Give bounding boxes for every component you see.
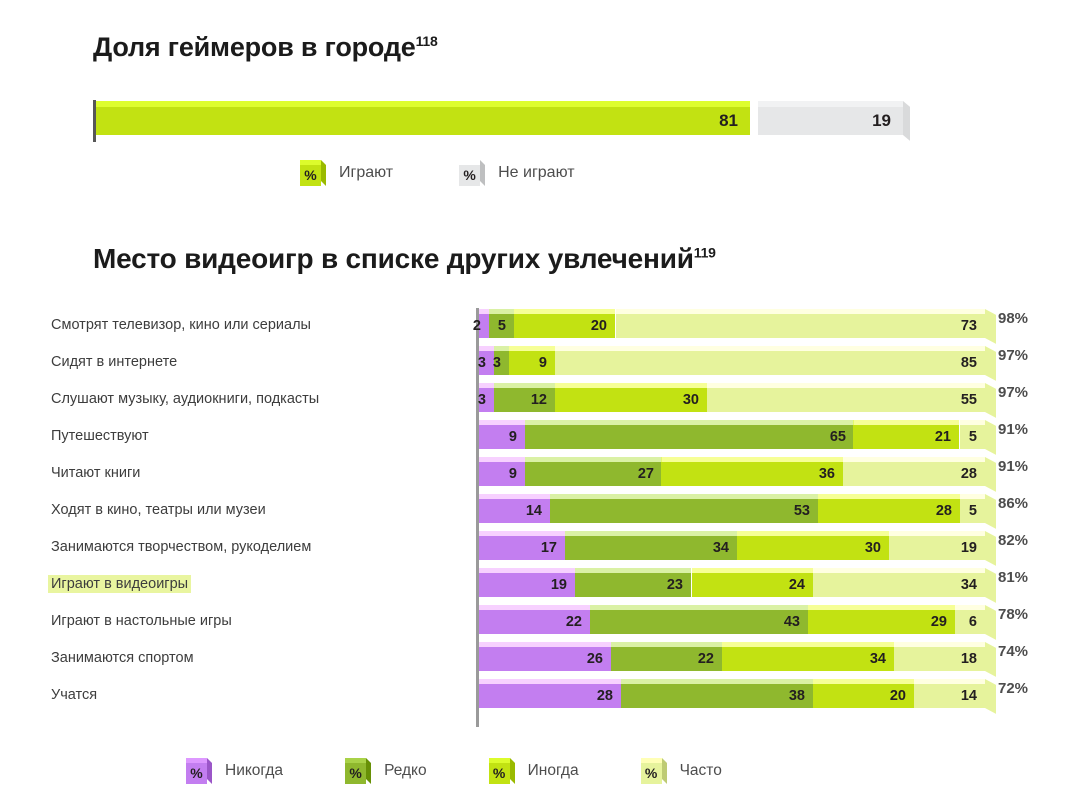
hobbies-segment-value: 19 (961, 538, 977, 558)
hobbies-segment-редко: 22 (611, 647, 722, 671)
segment-top-face (479, 457, 525, 462)
hobbies-segment-value: 34 (961, 575, 977, 595)
stack-end-cap (985, 420, 996, 455)
hobbies-row-label: Играют в настольные игры (48, 612, 235, 630)
percent-glyph: % (300, 165, 321, 186)
hobbies-footnote: 119 (694, 245, 716, 261)
percent-glyph: % (489, 763, 510, 784)
segment-top-face (818, 494, 960, 499)
hobbies-row-stack: 33985 (479, 351, 985, 375)
hobbies-segment-редко: 3 (494, 351, 509, 375)
hobbies-row-total: 72% (998, 680, 1028, 697)
gamers-share-segment-not-playing: 19 (758, 107, 903, 135)
gamers-share-legend-label: Не играют (498, 164, 574, 182)
hobbies-row-total: 97% (998, 384, 1028, 401)
hobbies-segment-иногда: 20 (514, 314, 615, 338)
hobbies-segment-value: 20 (890, 686, 906, 706)
percent-cube-icon: % (489, 758, 515, 784)
percent-cube-icon: % (186, 758, 212, 784)
segment-top-face (808, 605, 955, 610)
segment-top-face (960, 420, 985, 425)
hobbies-segment-value: 18 (961, 649, 977, 669)
hobbies-legend-label: Часто (680, 762, 722, 780)
hobbies-segment-редко: 38 (621, 684, 813, 708)
hobbies-segment-никогда: 9 (479, 462, 525, 486)
hobbies-row-stack: 965215 (479, 425, 985, 449)
hobbies-segment-value: 28 (597, 686, 613, 706)
hobbies-segment-никогда: 28 (479, 684, 621, 708)
percent-cube-icon: % (459, 160, 485, 186)
hobbies-row-total: 82% (998, 532, 1028, 549)
percent-glyph: % (459, 165, 480, 186)
hobbies-segment-value: 22 (698, 649, 714, 669)
hobbies-segment-value: 34 (870, 649, 886, 669)
hobbies-row: Играют в настольные игры224329678% (0, 604, 1080, 641)
stack-end-cap (985, 457, 996, 492)
hobbies-segment-никогда: 26 (479, 647, 611, 671)
hobbies-segment-часто: 18 (894, 647, 985, 671)
gamers-share-footnote: 118 (416, 33, 438, 49)
hobbies-segment-value: 5 (498, 316, 506, 336)
hobbies-row: Сидят в интернете3398597% (0, 345, 1080, 382)
segment-top-face (525, 457, 662, 462)
segment-top-face (479, 679, 621, 684)
segment-top-face (525, 420, 854, 425)
hobbies-segment-value: 73 (961, 316, 977, 336)
segment-top-face (479, 605, 590, 610)
gamers-share-legend-item-0: %Играют (300, 160, 393, 186)
hobbies-legend: %Никогда%Редко%Иногда%Часто (186, 758, 722, 784)
stack-end-cap (985, 605, 996, 640)
stack-end-cap (985, 531, 996, 566)
hobbies-row-label: Сидят в интернете (48, 353, 180, 371)
hobbies-segment-часто: 73 (616, 314, 985, 338)
hobbies-row-total: 81% (998, 569, 1028, 586)
segment-top-face (555, 346, 985, 351)
hobbies-segment-иногда: 28 (818, 499, 960, 523)
cube-side-face (321, 160, 326, 186)
hobbies-segment-иногда: 24 (692, 573, 813, 597)
segment-top-face (479, 346, 494, 351)
hobbies-row: Играют в видеоигры1923243481% (0, 567, 1080, 604)
gamers-share-segment-playing: 81 (96, 107, 750, 135)
stack-end-cap (985, 679, 996, 714)
hobbies-segment-value: 28 (936, 501, 952, 521)
hobbies-segment-value: 29 (931, 612, 947, 632)
hobbies-legend-item-0: %Никогда (186, 758, 283, 784)
segment-top-face (889, 531, 985, 536)
hobbies-segment-value: 19 (551, 575, 567, 595)
hobbies-row-total: 74% (998, 643, 1028, 660)
hobbies-segment-value: 55 (961, 390, 977, 410)
segment-top-face (555, 383, 707, 388)
segment-top-face (914, 679, 985, 684)
gamers-share-title-text: Доля геймеров в городе (93, 32, 416, 62)
gamers-share-value-playing: 81 (719, 111, 738, 131)
hobbies-segment-value: 14 (526, 501, 542, 521)
segment-top-face (479, 642, 611, 647)
segment-top-face (550, 494, 818, 499)
percent-glyph: % (345, 763, 366, 784)
hobbies-row-label: Читают книги (48, 464, 143, 482)
percent-glyph: % (186, 763, 207, 784)
segment-top-face (692, 568, 813, 573)
hobbies-segment-value: 14 (961, 686, 977, 706)
hobbies-segment-value: 17 (541, 538, 557, 558)
hobbies-segment-value: 3 (478, 353, 486, 373)
hobbies-row: Учатся2838201472% (0, 678, 1080, 715)
gamers-share-legend: %Играют%Не играют (300, 160, 575, 186)
hobbies-segment-value: 34 (713, 538, 729, 558)
hobbies-row: Читают книги927362891% (0, 456, 1080, 493)
hobbies-segment-value: 3 (493, 353, 501, 373)
segment-top-face (494, 383, 555, 388)
hobbies-legend-label: Редко (384, 762, 427, 780)
hobbies-segment-value: 30 (683, 390, 699, 410)
gamers-share-title: Доля геймеров в городе118 (93, 32, 438, 63)
hobbies-segment-value: 53 (794, 501, 810, 521)
hobbies-segment-часто: 34 (813, 573, 985, 597)
hobbies-row-stack: 19232434 (479, 573, 985, 597)
hobbies-segment-никогда: 17 (479, 536, 565, 560)
hobbies-segment-редко: 23 (575, 573, 691, 597)
stack-end-cap (985, 494, 996, 529)
hobbies-row-label: Ходят в кино, театры или музеи (48, 501, 269, 519)
hobbies-segment-редко: 5 (489, 314, 514, 338)
hobbies-segment-value: 3 (478, 390, 486, 410)
segment-top-face (575, 568, 691, 573)
segment-top-face (813, 568, 985, 573)
hobbies-segment-иногда: 36 (661, 462, 843, 486)
hobbies-segment-иногда: 30 (737, 536, 889, 560)
hobbies-row-stack: 3123055 (479, 388, 985, 412)
segment-top-face (96, 101, 750, 107)
segment-top-face (494, 346, 509, 351)
hobbies-segment-часто: 19 (889, 536, 985, 560)
hobbies-segment-value: 6 (969, 612, 977, 632)
hobbies-row-total: 78% (998, 606, 1028, 623)
percent-cube-icon: % (641, 758, 667, 784)
segment-top-face (611, 642, 722, 647)
hobbies-row-stack: 252073 (479, 314, 985, 338)
hobbies-row-total: 91% (998, 458, 1028, 475)
stack-end-cap (985, 309, 996, 344)
hobbies-segment-value: 27 (638, 464, 654, 484)
segment-top-face (661, 457, 843, 462)
hobbies-row-label: Смотрят телевизор, кино или сериалы (48, 316, 314, 334)
hobbies-legend-label: Иногда (528, 762, 579, 780)
hobbies-segment-value: 30 (865, 538, 881, 558)
hobbies-segment-value: 43 (784, 612, 800, 632)
segment-top-face (590, 605, 808, 610)
gamers-share-legend-label: Играют (339, 164, 393, 182)
segment-top-face (843, 457, 985, 462)
hobbies-row-label: Слушают музыку, аудиокниги, подкасты (48, 390, 322, 408)
cube-side-face (510, 758, 515, 784)
hobbies-row-stack: 9273628 (479, 462, 985, 486)
segment-top-face (509, 346, 555, 351)
hobbies-segment-value: 9 (509, 464, 517, 484)
hobbies-segment-часто: 5 (960, 425, 985, 449)
stack-end-cap (985, 642, 996, 677)
segment-top-face (813, 679, 914, 684)
hobbies-segment-никогда: 9 (479, 425, 525, 449)
hobbies-row-stack: 26223418 (479, 647, 985, 671)
hobbies-row-label: Играют в видеоигры (48, 575, 191, 593)
hobbies-legend-label: Никогда (225, 762, 283, 780)
hobbies-segment-value: 2 (473, 316, 481, 336)
segment-top-face (479, 568, 575, 573)
hobbies-segment-value: 28 (961, 464, 977, 484)
percent-glyph: % (641, 763, 662, 784)
hobbies-row-stack: 1453285 (479, 499, 985, 523)
gamers-share-value-not-playing: 19 (872, 111, 891, 131)
hobbies-row: Занимаются спортом2622341874% (0, 641, 1080, 678)
gamers-share-bar: 81 19 (93, 100, 903, 142)
segment-top-face (894, 642, 985, 647)
hobbies-row-total: 86% (998, 495, 1028, 512)
hobbies-segment-часто: 6 (955, 610, 985, 634)
hobbies-segment-иногда: 29 (808, 610, 955, 634)
hobbies-segment-иногда: 20 (813, 684, 914, 708)
segment-top-face (853, 420, 959, 425)
segment-side-face (903, 101, 910, 141)
segment-top-face (514, 309, 615, 314)
hobbies-row-stack: 17343019 (479, 536, 985, 560)
stack-end-cap (985, 568, 996, 603)
hobbies-segment-value: 26 (587, 649, 603, 669)
hobbies-row-label: Путешествуют (48, 427, 152, 445)
hobbies-title-text: Место видеоигр в списке других увлечений (93, 243, 694, 274)
hobbies-segment-иногда: 30 (555, 388, 707, 412)
hobbies-row-total: 91% (998, 421, 1028, 438)
hobbies-segment-value: 36 (819, 464, 835, 484)
hobbies-segment-никогда: 3 (479, 388, 494, 412)
segment-top-face (616, 309, 985, 314)
cube-side-face (207, 758, 212, 784)
hobbies-row-stack: 28382014 (479, 684, 985, 708)
hobbies-segment-value: 21 (935, 427, 951, 447)
segment-top-face (479, 420, 525, 425)
hobbies-row: Путешествуют96521591% (0, 419, 1080, 456)
hobbies-row: Ходят в кино, театры или музеи145328586% (0, 493, 1080, 530)
hobbies-row: Слушают музыку, аудиокниги, подкасты3123… (0, 382, 1080, 419)
hobbies-segment-value: 23 (667, 575, 683, 595)
hobbies-segment-никогда: 14 (479, 499, 550, 523)
hobbies-row-label: Учатся (48, 686, 100, 704)
hobbies-segment-часто: 5 (960, 499, 985, 523)
hobbies-segment-никогда: 19 (479, 573, 575, 597)
cube-side-face (480, 160, 485, 186)
hobbies-row-stack: 2243296 (479, 610, 985, 634)
hobbies-segment-никогда: 2 (479, 314, 489, 338)
segment-top-face (722, 642, 894, 647)
hobbies-segment-часто: 85 (555, 351, 985, 375)
hobbies-segment-редко: 34 (565, 536, 737, 560)
segment-top-face (737, 531, 889, 536)
hobbies-segment-value: 24 (789, 575, 805, 595)
hobbies-segment-редко: 27 (525, 462, 662, 486)
cube-side-face (662, 758, 667, 784)
hobbies-legend-item-1: %Редко (345, 758, 427, 784)
hobbies-segment-value: 65 (830, 427, 846, 447)
segment-top-face (479, 531, 565, 536)
percent-cube-icon: % (300, 160, 326, 186)
hobbies-row-total: 98% (998, 310, 1028, 327)
hobbies-title: Место видеоигр в списке других увлечений… (93, 243, 716, 275)
hobbies-segment-иногда: 34 (722, 647, 894, 671)
hobbies-segment-value: 9 (509, 427, 517, 447)
segment-top-face (707, 383, 985, 388)
gamers-share-legend-item-1: %Не играют (459, 160, 574, 186)
segment-top-face (489, 309, 514, 314)
hobbies-segment-часто: 55 (707, 388, 985, 412)
hobbies-segment-value: 12 (531, 390, 547, 410)
hobbies-segment-иногда: 21 (853, 425, 959, 449)
hobbies-segment-никогда: 22 (479, 610, 590, 634)
segment-top-face (955, 605, 985, 610)
hobbies-segment-часто: 14 (914, 684, 985, 708)
hobbies-segment-редко: 43 (590, 610, 808, 634)
hobbies-segment-часто: 28 (843, 462, 985, 486)
hobbies-segment-value: 22 (566, 612, 582, 632)
hobbies-segment-никогда: 3 (479, 351, 494, 375)
stack-end-cap (985, 383, 996, 418)
percent-cube-icon: % (345, 758, 371, 784)
segment-top-face (621, 679, 813, 684)
stack-end-cap (985, 346, 996, 381)
hobbies-segment-value: 38 (789, 686, 805, 706)
segment-top-face (479, 383, 494, 388)
hobbies-row: Занимаются творчеством, рукоделием173430… (0, 530, 1080, 567)
hobbies-segment-иногда: 9 (509, 351, 555, 375)
hobbies-row-total: 97% (998, 347, 1028, 364)
hobbies-legend-item-3: %Часто (641, 758, 722, 784)
hobbies-legend-item-2: %Иногда (489, 758, 579, 784)
hobbies-segment-редко: 65 (525, 425, 854, 449)
segment-top-face (479, 494, 550, 499)
hobbies-row: Смотрят телевизор, кино или сериалы25207… (0, 308, 1080, 345)
segment-top-face (758, 101, 903, 107)
hobbies-row-label: Занимаются спортом (48, 649, 197, 667)
hobbies-segment-value: 9 (539, 353, 547, 373)
hobbies-row-label: Занимаются творчеством, рукоделием (48, 538, 314, 556)
hobbies-segment-value: 5 (969, 427, 977, 447)
hobbies-segment-редко: 12 (494, 388, 555, 412)
hobbies-segment-value: 85 (961, 353, 977, 373)
hobbies-segment-редко: 53 (550, 499, 818, 523)
hobbies-segment-value: 20 (591, 316, 607, 336)
hobbies-segment-value: 5 (969, 501, 977, 521)
segment-top-face (960, 494, 985, 499)
cube-side-face (366, 758, 371, 784)
segment-top-face (565, 531, 737, 536)
segment-top-face (479, 309, 489, 314)
